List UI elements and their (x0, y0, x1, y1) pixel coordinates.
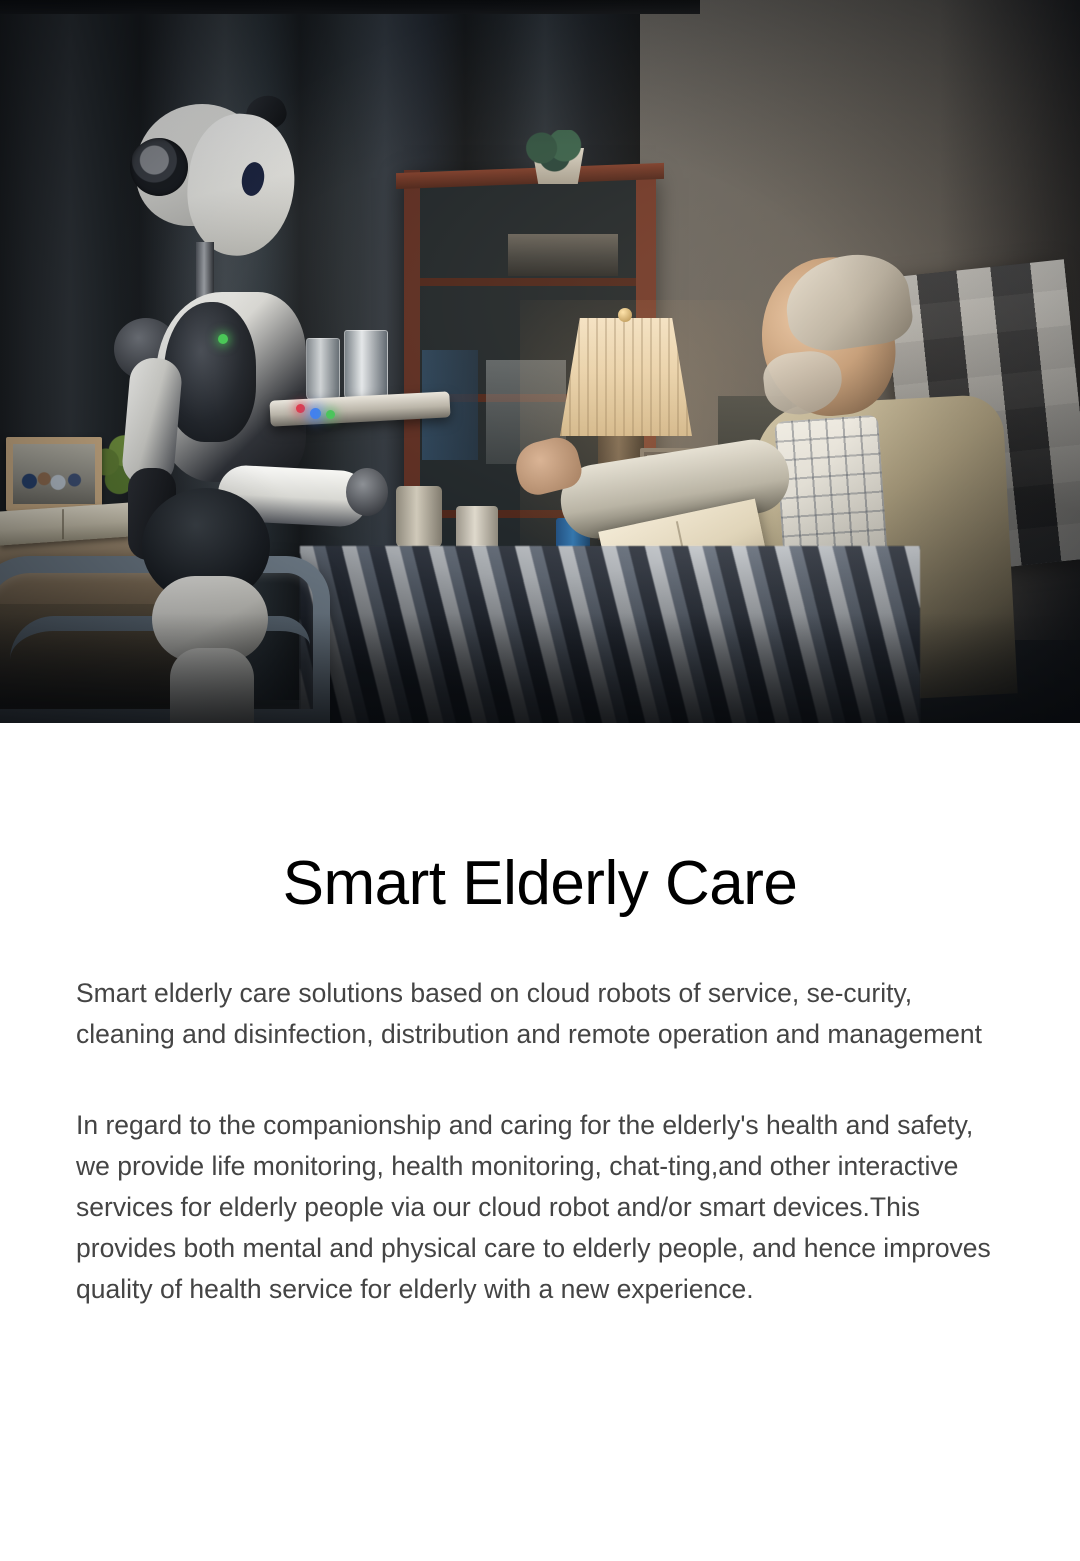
water-glass (306, 338, 340, 400)
bookcase-shelf (420, 278, 636, 286)
tray-led-blue-icon (310, 408, 321, 419)
robot-ear-sensor (130, 138, 188, 196)
robot-legs (170, 648, 254, 723)
books-stack (508, 234, 618, 276)
family-photo-frame (6, 437, 102, 511)
page-title: Smart Elderly Care (0, 723, 1080, 915)
paragraph-details: In regard to the companionship and carin… (76, 1105, 1005, 1310)
body-copy: Smart elderly care solutions based on cl… (0, 973, 1080, 1310)
family-photo (13, 444, 95, 504)
paragraph-overview: Smart elderly care solutions based on cl… (76, 973, 1005, 1055)
curtain-rail (0, 0, 700, 14)
robot-elbow-joint (346, 468, 388, 516)
bedroom-scene (0, 0, 1080, 723)
tray-led-green-icon (326, 410, 335, 419)
potted-plant (520, 130, 592, 180)
robot-status-led (218, 334, 228, 344)
tray-led-red-icon (296, 404, 305, 413)
hero-image (0, 0, 1080, 723)
water-glass (344, 330, 388, 400)
content-section: Smart Elderly Care Smart elderly care so… (0, 723, 1080, 1310)
